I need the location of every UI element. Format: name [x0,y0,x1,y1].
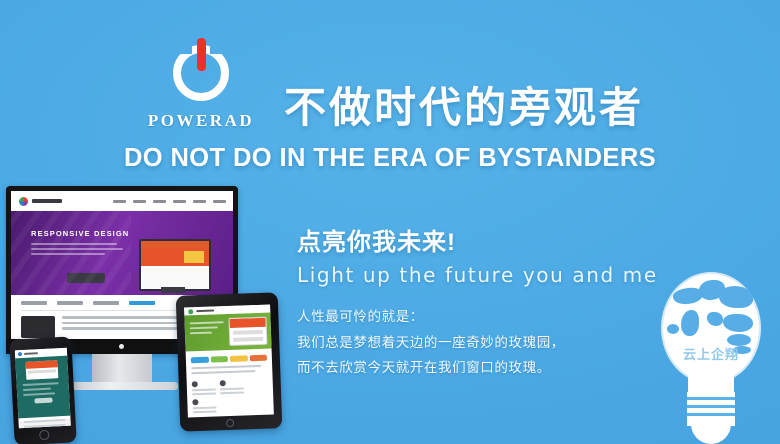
text-line [23,392,55,396]
ipad-screen [184,305,274,418]
tablet-hero-banner [184,313,271,352]
text-line [191,365,261,369]
text-line [220,391,244,394]
article-thumbnail [21,316,55,338]
text-line [190,332,212,335]
power-button-icon [168,38,234,104]
tablet-hero-card [228,317,267,346]
text-line [191,370,255,374]
text-line [193,406,217,409]
imac-logo-dot [119,344,124,349]
feature-item [220,380,244,395]
tablet-hero-text [190,321,225,337]
iphone-screen [15,348,71,429]
site-navbar [11,191,233,211]
menu-item [133,200,146,203]
mini-page-header [141,241,209,248]
feature-item [192,398,216,413]
mobile-hero-text [16,378,69,397]
imac-stand-neck [92,354,152,384]
menu-item [193,200,206,203]
card-line [233,337,263,342]
mini-page-body [141,266,209,289]
feature-icon [192,381,198,387]
color-bar [249,355,267,362]
tab-item [93,301,119,305]
text-line [62,322,183,325]
mini-page-hero [141,248,209,266]
quote-line-2: 我们总是梦想着天边的一座奇妙的玫瑰园， [297,333,697,353]
feature-item [192,380,216,395]
bulb-tip [691,422,731,444]
color-bar [230,355,248,362]
power-bar-shape [197,38,206,71]
card-line [233,330,263,335]
text-line [24,424,66,428]
card-line [28,369,56,373]
site-cta-button [67,273,105,283]
site-hero-title: RESPONSIVE DESIGN [31,229,129,238]
feature-icon [220,380,226,386]
site-logo-icon [19,197,28,206]
quote-line-1: 人性最可怜的就是： [297,307,697,327]
text-line [24,419,66,423]
tile [219,417,243,418]
tile [246,416,270,418]
text-line [62,327,194,330]
site-logo-text [32,199,62,203]
text-line [31,253,105,255]
text-line [220,387,244,390]
tab-item-active [129,301,155,305]
text-line [192,392,216,395]
tab-item [57,301,83,305]
tablet-logo-text [196,309,214,312]
ipad-tablet [176,292,283,431]
menu-item [173,200,186,203]
site-hero-text [31,243,123,258]
slogan-chinese: 点亮你我未来! [297,222,697,257]
mobile-cta-button [34,398,52,404]
headline-chinese: 不做时代的旁观者 [284,87,644,133]
iphone-mobile [9,336,76,444]
feature-icon [192,399,198,405]
device-mockup-group: RESPONSIVE DESIGN [0,186,260,444]
headline-english: DO NOT DO IN THE ERA OF BYSTANDERS [0,144,780,173]
site-hero-monitor-image [139,239,211,291]
bulb-screw-ring [687,413,735,416]
ipad-home-button [226,419,234,427]
site-menu [113,200,226,203]
mobile-hero-card [25,360,58,380]
card-header [229,318,265,328]
text-line [31,243,117,245]
text-line [190,326,218,329]
mobile-footer [19,419,71,429]
iphone-home-button [39,430,50,441]
quote-paragraph: 人性最可怜的就是： 我们总是梦想着天边的一座奇妙的玫瑰园， 而不去欣赏今天就开在… [297,307,697,378]
bulb-neck [688,358,734,394]
mobile-logo-icon [18,352,22,356]
mobile-hero-banner [15,356,70,419]
imac-stand-foot [66,382,178,390]
site-hero-banner: RESPONSIVE DESIGN [11,211,233,295]
slogan-english: Light up the future you and me [297,263,697,287]
menu-item [213,200,226,203]
color-bar [210,356,228,363]
bulb-screw-ring [687,405,735,408]
text-line [23,382,59,386]
tablet-logo-icon [188,309,193,314]
banner-stage: POWERAD 不做时代的旁观者 DO NOT DO IN THE ERA OF… [0,0,780,444]
text-line [190,321,224,324]
mobile-logo-text [24,352,38,355]
hero-section: POWERAD 不做时代的旁观者 DO NOT DO IN THE ERA OF… [0,38,780,173]
card-header [25,360,57,369]
text-line [23,388,51,391]
brand-wordmark: POWERAD [148,111,254,131]
text-line [192,388,216,391]
tab-item [21,301,47,305]
right-text-column: 点亮你我未来! Light up the future you and me 人… [297,222,697,384]
menu-item [153,200,166,203]
lightbulb-globe-graphic: 云上企翔 [652,272,770,444]
hero-row: POWERAD 不做时代的旁观者 [0,38,780,133]
quote-line-3: 而不去欣赏今天就开在我们窗口的玫瑰。 [297,358,697,378]
bulb-label: 云上企翔 [652,344,770,363]
bulb-screw-ring [687,397,735,400]
color-bar [191,357,209,364]
brand-logo-block: POWERAD [136,38,266,133]
tablet-feature-grid [187,374,274,413]
menu-item [113,200,126,203]
text-line [31,248,123,250]
mini-monitor-stand [161,287,185,293]
